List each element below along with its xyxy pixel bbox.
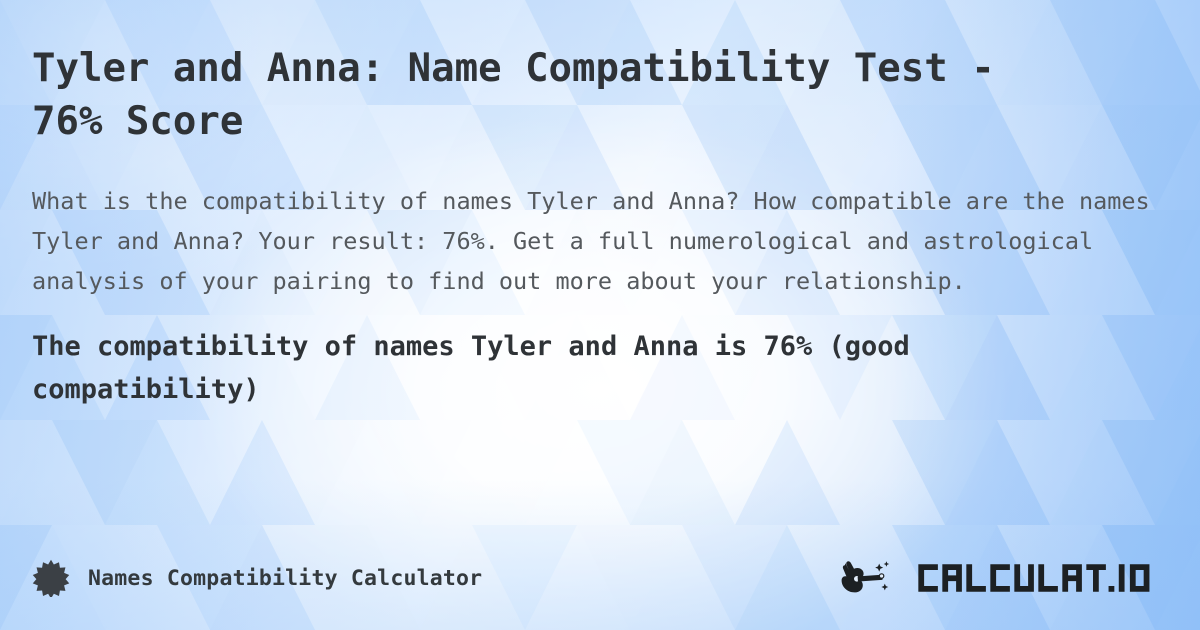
social-card: Tyler and Anna: Name Compatibility Test …	[0, 0, 1200, 630]
result-statement: The compatibility of names Tyler and Ann…	[32, 301, 1152, 411]
starburst-icon	[32, 559, 70, 597]
calculatio-wordmark: CALCULAT.IO	[902, 558, 1180, 598]
calculatio-logo[interactable]: CALCULAT.IO	[840, 558, 1180, 598]
brand-block: Names Compatibility Calculator	[32, 559, 482, 597]
description-text: What is the compatibility of names Tyler…	[32, 148, 1168, 301]
page-title: Tyler and Anna: Name Compatibility Test …	[32, 0, 1062, 148]
brand-label: Names Compatibility Calculator	[88, 566, 482, 591]
footer: Names Compatibility Calculator	[32, 552, 1180, 604]
hand-magic-wand-icon	[840, 558, 896, 598]
content-area: Tyler and Anna: Name Compatibility Test …	[0, 0, 1200, 630]
